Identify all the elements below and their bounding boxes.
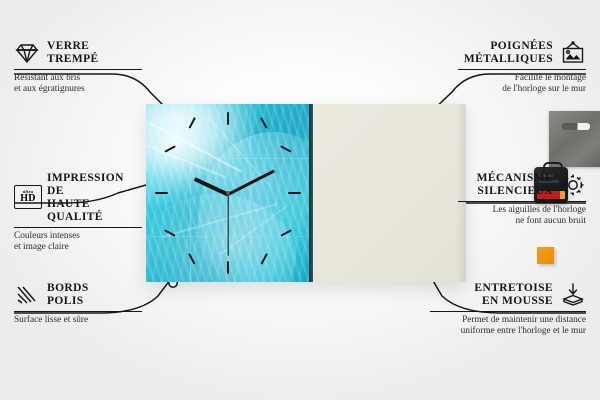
second-hand (227, 194, 228, 256)
feature-desc-line1: Permet de maintenir une distance (462, 315, 586, 325)
clock-center-pin (226, 191, 230, 195)
product-image (146, 104, 466, 282)
hour-hand (194, 178, 229, 197)
ultra-hd-icon: ultra HD (14, 185, 40, 211)
feature-verre-trempe: VERRE TREMPÉ Résistant aux bris et aux é… (14, 40, 142, 95)
clock-back-panel (313, 104, 466, 282)
foam-spacer-arrow-icon (560, 282, 586, 308)
feature-desc-line1: Surface lisse et sûre (14, 315, 88, 325)
feature-desc-line1: Facilite le montage (515, 73, 586, 83)
hanger-keyhole-icon (562, 123, 590, 130)
feature-title-line1: BORDS (47, 282, 89, 294)
infographic-canvas: VERRE TREMPÉ Résistant aux bris et aux é… (0, 0, 600, 400)
feature-title-line2: EN MOUSSE (482, 295, 553, 307)
metal-hanger-plate (549, 111, 600, 167)
divider (14, 311, 142, 312)
feature-mecanisme-silencieux: MÉCANISME SILENCIEUX Les aiguilles de l'… (458, 172, 586, 227)
feature-title-line1: ENTRETOISE (474, 282, 553, 294)
feature-desc-line1: Les aiguilles de l'horloge (493, 205, 586, 215)
feature-title-line2: SILENCIEUX (477, 185, 553, 197)
feature-desc-line1: Couleurs intenses (14, 231, 80, 241)
feature-title-line2: MÉTALLIQUES (464, 53, 553, 65)
clock-front-panel (146, 104, 309, 282)
feature-title-line1: MÉCANISME (477, 172, 553, 184)
feature-desc-line2: et aux égratignures (14, 84, 85, 94)
feature-desc-line1: Résistant aux bris (14, 73, 80, 83)
feature-impression-haute-qualite: ultra HD IMPRESSION DE HAUTE QUALITÉ Cou… (14, 172, 142, 253)
feature-desc-line2: ne font aucun bruit (516, 216, 586, 226)
divider (430, 311, 586, 312)
divider (14, 69, 142, 70)
feature-desc-line2: de l'horloge sur le mur (502, 84, 586, 94)
feature-title-line1: IMPRESSION DE (47, 172, 124, 197)
divider (458, 69, 586, 70)
feature-title-line1: POIGNÉES (490, 40, 553, 52)
feature-poignees-metalliques: POIGNÉES MÉTALLIQUES Facilite le montage… (458, 40, 586, 95)
minute-hand (227, 170, 275, 196)
mechanism-hook (543, 162, 563, 172)
feature-desc-line2: et image claire (14, 242, 69, 252)
foam-spacer (537, 247, 554, 264)
feature-title-line2: HAUTE QUALITÉ (47, 198, 103, 223)
diamond-icon (14, 40, 40, 66)
divider (458, 201, 586, 202)
gear-icon (560, 172, 586, 198)
feature-title-line2: TREMPÉ (47, 53, 99, 65)
wall-mount-frame-icon (560, 40, 586, 66)
feature-entretoise-en-mousse: ENTRETOISE EN MOUSSE Permet de maintenir… (430, 282, 586, 337)
clock-dial (146, 104, 309, 282)
ultra-hd-icon-main: HD (20, 194, 36, 204)
feature-title-line1: VERRE (47, 40, 89, 52)
feature-desc-line2: uniforme entre l'horloge et le mur (461, 326, 586, 336)
divider (14, 227, 142, 228)
polished-edges-icon (14, 282, 40, 308)
feature-bords-polis: BORDS POLIS Surface lisse et sûre (14, 282, 142, 326)
feature-title-line2: POLIS (47, 295, 84, 307)
